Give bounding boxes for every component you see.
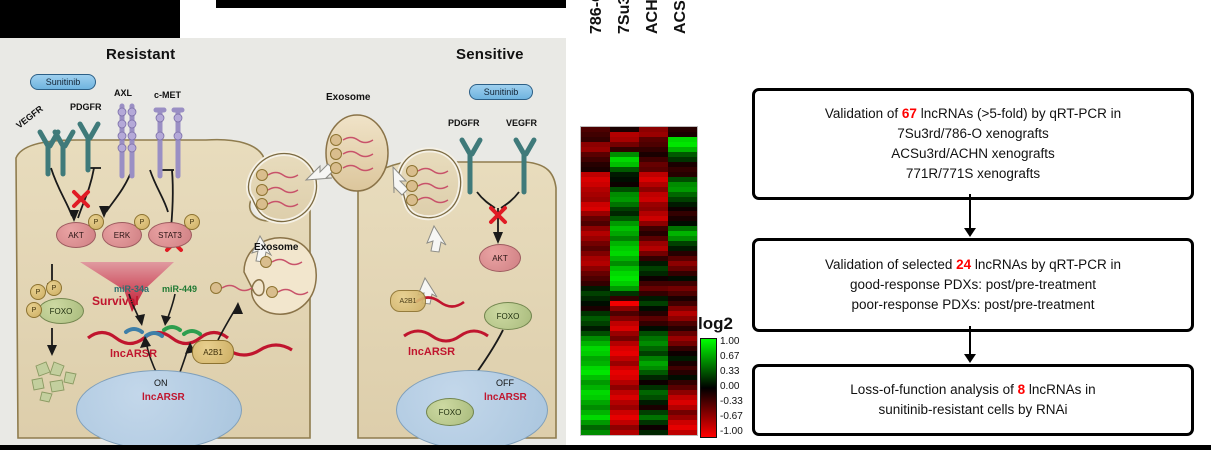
protein-foxo-sensitive-cytoplasm: FOXO — [484, 302, 532, 330]
receptor-pdgfr-sensitive — [462, 140, 480, 192]
protein-foxo-resistant: FOXO — [38, 298, 84, 324]
legend-tick: 0.67 — [720, 351, 739, 362]
flow-line: ACSu3rd/ACHN xenografts — [891, 144, 1055, 164]
block-x-akt-sensitive — [491, 208, 505, 222]
label-lncarsr-sensitive: lncARSR — [408, 346, 455, 358]
heatmap-cell — [581, 430, 610, 435]
heatmap-column — [668, 127, 697, 435]
protein-akt-sensitive: AKT — [479, 244, 521, 272]
phospho-tag-erk: P — [134, 214, 150, 230]
right-panel-inner: 786-O 7Su3rd ACHN ACSu3rd log2 1.00 0.67… — [566, 14, 1211, 438]
phospho-tag-foxo-3: P — [26, 302, 42, 318]
legend-title-log2: log2 — [698, 314, 733, 334]
legend-tick: 0.00 — [720, 381, 739, 392]
label-cmet: c-MET — [154, 90, 181, 100]
lncrna-expression-heatmap — [580, 126, 698, 436]
label-vegfr-sensitive: VEGFR — [506, 118, 537, 128]
flow-box-loss-of-function-8: Loss-of-function analysis of 8 lncRNAs i… — [752, 364, 1194, 436]
flow-line: Validation of 67 lncRNAs (>5-fold) by qR… — [825, 104, 1121, 124]
phospho-tag-stat3: P — [184, 214, 200, 230]
receptor-pdgfr-resistant — [80, 124, 98, 170]
label-nucleus-lncarsr-sensitive: lncARSR — [484, 392, 527, 403]
label-nucleus-state-off: OFF — [496, 378, 514, 388]
flow-line: 771R/771S xenografts — [906, 164, 1040, 184]
cell-schematic: Resistant Sensitive — [6, 40, 562, 448]
label-nucleus-state-on: ON — [154, 378, 168, 388]
flow-line: Validation of selected 24 lncRNAs by qRT… — [825, 255, 1121, 275]
protein-foxo-sensitive-nucleus: FOXO — [426, 398, 474, 426]
label-survival: Survival — [92, 294, 139, 308]
left-diagram-panel: Resistant Sensitive — [0, 38, 566, 450]
phospho-tag-foxo-2: P — [46, 280, 62, 296]
heatmap-cell — [639, 430, 668, 435]
figure-root: Resistant Sensitive — [0, 0, 1211, 450]
legend-tick: -1.00 — [720, 426, 743, 437]
right-analysis-panel: 786-O 7Su3rd ACHN ACSu3rd log2 1.00 0.67… — [566, 0, 1211, 450]
legend-tick: -0.33 — [720, 396, 743, 407]
bottom-black-band — [0, 445, 1211, 450]
flow-box-validation-67: Validation of 67 lncRNAs (>5-fold) by qR… — [752, 88, 1194, 200]
legend-tick: 1.00 — [720, 336, 739, 347]
label-pdgfr-resistant: PDGFR — [70, 102, 102, 112]
label-mir-449: miR-449 — [162, 284, 197, 294]
heatmap-column — [581, 127, 610, 435]
heatmap-column — [610, 127, 639, 435]
phospho-tag-akt: P — [88, 214, 104, 230]
heatmap-cell — [610, 430, 639, 435]
legend-tick: 0.33 — [720, 366, 739, 377]
label-exosome-resistant-mvb: Exosome — [254, 242, 298, 253]
flow-arrowhead-1 — [964, 228, 976, 237]
flow-arrow-2 — [969, 326, 971, 356]
protein-a2b1-sensitive: A2B1 — [390, 290, 426, 312]
label-lncarsr-resistant: lncARSR — [110, 348, 157, 360]
receptor-vegfr-resistant — [40, 132, 73, 174]
legend-tick: -0.67 — [720, 411, 743, 422]
flow-box-validation-24: Validation of selected 24 lncRNAs by qRT… — [752, 238, 1194, 332]
drug-pill-sunitinib-sensitive: Sunitinib — [469, 84, 533, 100]
heatmap-cell — [668, 430, 697, 435]
flow-arrowhead-2 — [964, 354, 976, 363]
flow-line: poor-response PDXs: post/pre-treatment — [851, 295, 1094, 315]
drug-pill-sunitinib-resistant: Sunitinib — [30, 74, 96, 90]
flow-line: good-response PDXs: post/pre-treatment — [850, 275, 1096, 295]
heatmap-column — [639, 127, 668, 435]
label-nucleus-lncarsr-resistant: lncARSR — [142, 392, 185, 403]
flow-line: Loss-of-function analysis of 8 lncRNAs i… — [850, 380, 1095, 400]
flow-line: 7Su3rd/786-O xenografts — [897, 124, 1049, 144]
artifact-block — [180, 0, 216, 40]
flow-arrow-1 — [969, 194, 971, 230]
phospho-tag-foxo-1: P — [30, 284, 46, 300]
label-mir-34a: miR-34a — [114, 284, 149, 294]
colorbar — [700, 338, 717, 438]
flow-line: sunitinib-resistant cells by RNAi — [878, 400, 1067, 420]
label-axl: AXL — [114, 88, 132, 98]
protein-a2b1-resistant: A2B1 — [192, 340, 234, 364]
label-pdgfr-sensitive: PDGFR — [448, 118, 480, 128]
receptor-axl — [122, 106, 132, 176]
label-exosome-center: Exosome — [326, 92, 370, 103]
block-x-akt-resistant — [74, 192, 88, 206]
receptor-vegfr-sensitive — [516, 140, 534, 192]
